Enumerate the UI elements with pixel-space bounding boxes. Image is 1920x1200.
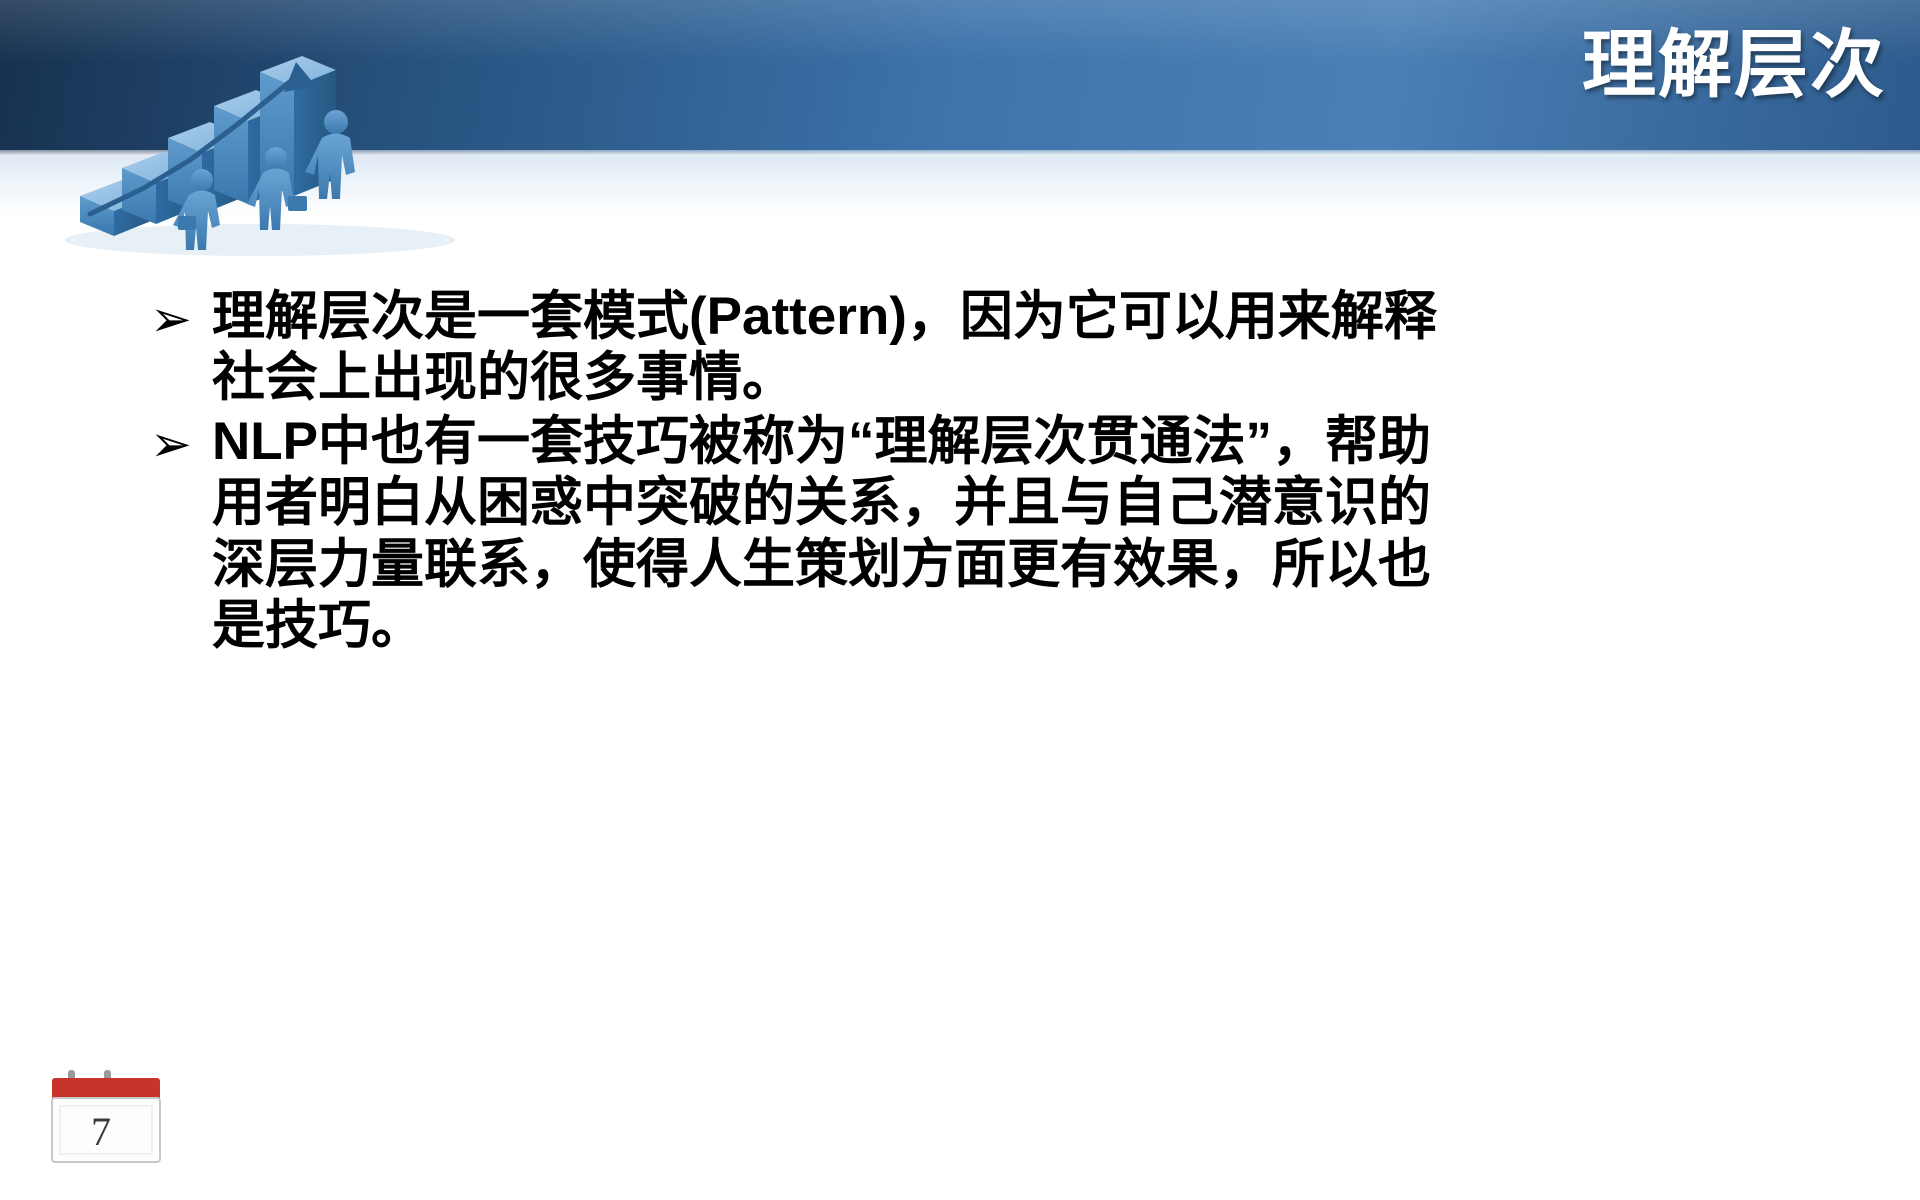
bullet-arrow-icon: ➢: [150, 411, 212, 474]
bullet-item: ➢ NLP中也有一套技巧被称为“理解层次贯通法”，帮助用者明白从困惑中突破的关系…: [150, 411, 1850, 657]
bar-chart-decoration-icon: [60, 28, 500, 258]
bullet-text: 理解层次是一套模式(Pattern)，因为它可以用来解释社会上出现的很多事情。: [212, 286, 1447, 409]
bullet-item: ➢ 理解层次是一套模式(Pattern)，因为它可以用来解释社会上出现的很多事情…: [150, 286, 1850, 409]
slide-body: ➢ 理解层次是一套模式(Pattern)，因为它可以用来解释社会上出现的很多事情…: [150, 286, 1850, 659]
slide-canvas: 理解层次: [0, 0, 1920, 1200]
bullet-arrow-icon: ➢: [150, 286, 212, 349]
page-title: 理解层次: [1582, 28, 1886, 102]
page-number-text: 7: [42, 1108, 160, 1155]
bullet-text: NLP中也有一套技巧被称为“理解层次贯通法”，帮助用者明白从困惑中突破的关系，并…: [212, 411, 1447, 657]
page-number-badge: 7: [42, 1068, 170, 1172]
